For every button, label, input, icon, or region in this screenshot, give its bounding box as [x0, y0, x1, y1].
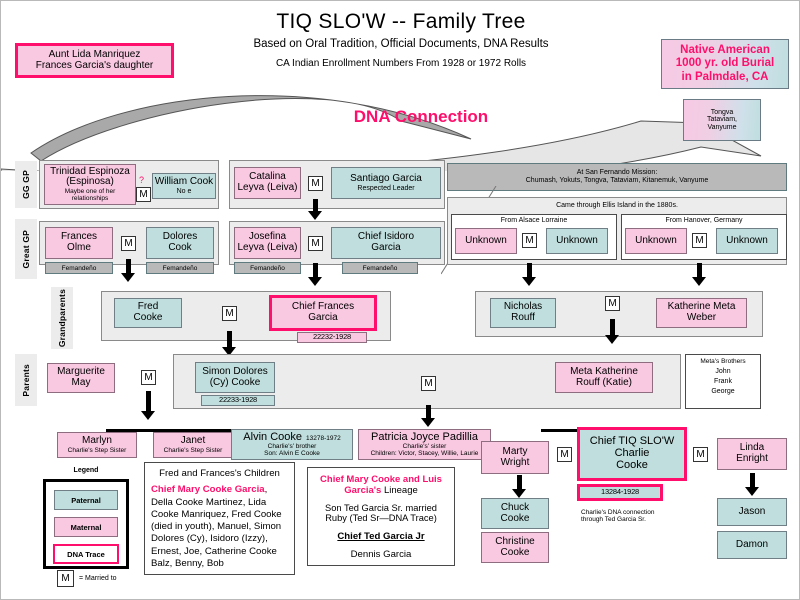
- linda-enright-box: Linda Enright: [717, 438, 787, 470]
- damon-box: Damon: [717, 531, 787, 559]
- charlie-dna-note: Charlie's DNA connection through Ted Gar…: [581, 509, 691, 523]
- christine-line2: Cooke: [501, 548, 530, 559]
- marty-line2: Wright: [501, 458, 530, 469]
- lineage-chief-ted-garcia-jr: Chief Ted Garcia Jr: [313, 531, 449, 542]
- alvin-enrollment-number: 13278-1972: [306, 435, 341, 442]
- fred-frances-children-list: Chief Mary Cooke Garcia, Della Cooke Mar…: [151, 484, 288, 570]
- nicholas-rouff-line2: Rouff: [511, 313, 535, 324]
- simon-enrollment-number: 22233-1928: [219, 396, 257, 404]
- rail-parents: Parents: [15, 354, 37, 406]
- marty-charlie-marriage-marker: M: [557, 447, 572, 462]
- simon-line1: Simon Dolores: [202, 367, 268, 378]
- legend-paternal-label: Paternal: [71, 496, 101, 505]
- ethnicity-tag-josefina: Femandeño: [234, 262, 301, 274]
- fred-frances-children-title: Fred and Frances's Children: [151, 468, 288, 480]
- rail-grandparents-label: Grandparents: [57, 289, 67, 347]
- arrow-great-to-grandparents-center: [308, 263, 322, 286]
- patricia-sub1: Charlie's' sister: [403, 443, 447, 450]
- metas-brothers-box: Meta's Brothers John Frank George: [685, 354, 761, 409]
- trinidad-line2: (Espinosa): [66, 177, 114, 188]
- legend-married-label: = Married to: [79, 575, 117, 582]
- alvin-sub1: Charlie's' brother: [268, 443, 317, 450]
- william-line1: William Cook: [155, 177, 213, 188]
- metas-brothers-title: Meta's Brothers: [686, 358, 760, 365]
- unknown-hanover-maternal-box: Unknown: [625, 228, 687, 254]
- rail-great-gp-label: Great GP: [21, 230, 31, 268]
- catalina-leyva-box: Catalina Leyva (Leiva): [234, 167, 301, 199]
- mission-line2: Chumash, Yokuts, Tongva, Tataviam, Kitan…: [526, 177, 709, 185]
- mary-cooke-lineage-box: Chief Mary Cooke and Luis Garcia's Linea…: [307, 467, 455, 566]
- jason-box: Jason: [717, 498, 787, 526]
- marty-wright-box: Marty Wright: [481, 441, 549, 474]
- page-subtitle-1: Based on Oral Tradition, Official Docume…: [171, 38, 631, 50]
- ellis-island-label: Came through Ellis Island in the 1880s.: [448, 198, 786, 209]
- tongva-line1: Tongva: [711, 109, 734, 117]
- janet-sub: Charlie's Step Sister: [164, 447, 223, 454]
- chuck-line1: Chuck: [501, 503, 529, 514]
- tongva-line3: Vanyume: [707, 124, 736, 132]
- fred-cooke-line2: Cooke: [134, 313, 163, 324]
- marguerite-may-box: Marguerite May: [47, 363, 115, 393]
- alvin-cooke-box: Alvin Cooke 13278-1972 Charlie's' brothe…: [231, 429, 353, 460]
- trinidad-note1: Maybe one of her: [65, 188, 116, 195]
- lineage-title-2: Garcia's Lineage: [313, 485, 449, 496]
- fred-frances-children-rest: , Della Cooke Martinez, Lida Cooke Manri…: [151, 484, 282, 569]
- lineage-title-1: Chief Mary Cooke and Luis: [313, 474, 449, 485]
- josefina-line2: Leyva (Leiva): [237, 243, 297, 254]
- fred-frances-children-highlight: Chief Mary Cooke Garcia: [151, 484, 265, 495]
- lineage-dennis-garcia: Dennis Garcia: [313, 549, 449, 560]
- rail-parents-label: Parents: [21, 364, 31, 397]
- arrow-gg-to-great-center: [308, 199, 322, 220]
- isidoro-line2: Garcia: [371, 243, 400, 254]
- arrow-hanover-down: [692, 263, 706, 286]
- simon-line2: (Cy) Cooke: [210, 378, 261, 389]
- legend-box: Paternal Maternal DNA Trace M = Married …: [43, 479, 129, 569]
- simon-meta-marriage-marker: M: [421, 376, 436, 391]
- josefina-leyva-box: Josefina Leyva (Leiva): [234, 227, 301, 259]
- christine-line1: Christine: [495, 537, 534, 548]
- ethnicity-tag-isidoro: Femandeño: [342, 262, 418, 274]
- native-line3: in Palmdale, CA: [682, 71, 769, 85]
- charlie-dna-note-line1: Charlie's DNA connection: [581, 509, 691, 516]
- simon-dolores-cooke-box: Simon Dolores (Cy) Cooke: [195, 362, 275, 393]
- native-line1: Native American: [680, 44, 770, 58]
- santiago-garcia-box: Santiago Garcia Respected Leader: [331, 167, 441, 199]
- charlie-enrollment-number: 13284-1928: [601, 488, 639, 496]
- dolores-cook-box: Dolores Cook: [146, 227, 214, 259]
- marty-line1: Marty: [503, 447, 528, 458]
- olme-cook-marriage-marker: M: [121, 236, 136, 251]
- marlyn-name: Marlyn: [82, 436, 112, 447]
- native-line2: 1000 yr. old Burial: [676, 57, 774, 71]
- frances-garcia-enrollment-number: 22232-1928: [313, 333, 351, 341]
- chief-isidoro-garcia-box: Chief Isidoro Garcia: [331, 227, 441, 259]
- katherine-weber-box: Katherine Meta Weber: [656, 298, 747, 328]
- trinidad-espinoza-box: Trinidad Espinoza (Espinosa) Maybe one o…: [44, 164, 136, 205]
- frances-olme-box: Frances Olme: [45, 227, 113, 259]
- ethnicity-tag-olme: Femandeño: [45, 262, 113, 274]
- santiago-line1: Santiago Garcia: [350, 174, 422, 185]
- damon-label: Damon: [736, 540, 768, 551]
- charlie-dna-note-line2: through Ted Garcia Sr.: [581, 516, 691, 523]
- legend-maternal-label: Maternal: [71, 523, 102, 532]
- fred-frances-children-box: Fred and Frances's Children Chief Mary C…: [144, 462, 295, 575]
- marlyn-sub: Charlie's Step Sister: [68, 447, 127, 454]
- santiago-line2: Respected Leader: [357, 185, 414, 193]
- rail-gg-gp: GG GP: [15, 161, 37, 208]
- trinidad-william-marriage-marker: M: [136, 187, 151, 202]
- native-american-burial-box: Native American 1000 yr. old Burial in P…: [661, 39, 789, 89]
- meta-katherine-rouff-box: Meta Katherine Rouff (Katie): [555, 362, 653, 393]
- marlyn-box: Marlyn Charlie's Step Sister: [57, 432, 137, 458]
- simon-enrollment-tag: 22233-1928: [201, 395, 275, 406]
- mission-line1: At San Fernando Mission:: [577, 169, 658, 177]
- alsace-marriage-marker: M: [522, 233, 537, 248]
- jason-label: Jason: [739, 507, 766, 518]
- chuck-line2: Cooke: [501, 514, 530, 525]
- unknown-hanover-paternal-box: Unknown: [716, 228, 778, 254]
- page-subtitle-2: CA Indian Enrollment Numbers From 1928 o…: [171, 58, 631, 69]
- metas-brother-2: Frank: [686, 378, 760, 385]
- william-line2: No e: [177, 188, 192, 196]
- charlie-line3: Cooke: [616, 460, 648, 472]
- unknown-alsace-paternal-label: Unknown: [556, 236, 598, 247]
- arrow-parents-to-children: [421, 405, 435, 427]
- charlie-linda-marriage-marker: M: [693, 447, 708, 462]
- frances-olme-line2: Olme: [67, 243, 91, 254]
- dolores-cook-line2: Cook: [168, 243, 191, 254]
- frances-garcia-line2: Garcia: [308, 313, 337, 324]
- aunt-lida-line1: Aunt Lida Manriquez: [49, 50, 141, 61]
- metas-brother-1: John: [686, 368, 760, 375]
- chief-tiq-slow-charlie-cooke-box: Chief TIQ SLO'W Charlie Cooke: [579, 429, 685, 479]
- patricia-sub2: Children: Victor, Stacey, Willie, Laurie: [371, 450, 479, 457]
- legend-dna-trace-swatch: DNA Trace: [53, 544, 119, 564]
- page-title: TIQ SLO'W -- Family Tree: [201, 10, 601, 34]
- charlie-enrollment-tag: 13284-1928: [579, 486, 661, 499]
- christine-cooke-box: Christine Cooke: [481, 532, 549, 563]
- katherine-weber-line2: Weber: [687, 313, 716, 324]
- linda-line2: Enright: [736, 454, 768, 465]
- legend-title: Legend: [43, 467, 129, 474]
- janet-box: Janet Charlie's Step Sister: [153, 432, 233, 458]
- tongva-tribes-box: Tongva Tataviam, Vanyume: [683, 99, 761, 141]
- legend-paternal-swatch: Paternal: [54, 490, 118, 510]
- hanover-label: From Hanover, Germany: [622, 215, 786, 224]
- legend-m-marker: M: [57, 570, 74, 587]
- lineage-line-1: Son Ted Garcia Sr. married: [313, 503, 449, 513]
- unknown-hanover-paternal-label: Unknown: [726, 236, 768, 247]
- aunt-lida-line2: Frances Garcia's daughter: [36, 61, 154, 72]
- unknown-alsace-paternal-box: Unknown: [546, 228, 608, 254]
- marguerite-simon-marriage-marker: M: [141, 370, 156, 385]
- aunt-lida-box: Aunt Lida Manriquez Frances Garcia's dau…: [17, 45, 172, 76]
- catalina-line2: Leyva (Leiva): [237, 183, 297, 194]
- meta-line2: Rouff (Katie): [576, 378, 632, 389]
- lineage-title-2-highlight: Garcia's: [344, 485, 381, 496]
- arrow-alsace-down: [522, 263, 536, 286]
- hanover-marriage-marker: M: [692, 233, 707, 248]
- frances-garcia-enrollment-tag: 22232-1928: [297, 332, 367, 343]
- legend-married-row: M = Married to: [57, 570, 126, 587]
- legend-dna-trace-label: DNA Trace: [67, 550, 105, 559]
- nicholas-katherine-marriage-marker: M: [605, 296, 620, 311]
- meta-line1: Meta Katherine: [570, 367, 638, 378]
- trinidad-note2: relationships: [72, 195, 109, 202]
- arrow-parents-down-left: [141, 391, 155, 420]
- lineage-line-2: Ruby (Ted Sr—DNA Trace): [313, 513, 449, 523]
- metas-brother-3: George: [686, 388, 760, 395]
- family-tree-canvas: TIQ SLO'W -- Family Tree Based on Oral T…: [0, 0, 800, 600]
- unknown-hanover-maternal-label: Unknown: [635, 236, 677, 247]
- chief-frances-garcia-box: Chief Frances Garcia: [271, 297, 375, 329]
- marguerite-line2: May: [72, 378, 91, 389]
- arrow-linda-to-jason: [745, 473, 759, 496]
- unknown-alsace-maternal-box: Unknown: [455, 228, 517, 254]
- chuck-cooke-box: Chuck Cooke: [481, 498, 549, 529]
- nicholas-rouff-box: Nicholas Rouff: [490, 298, 556, 328]
- arrow-grandparents-to-parents-left: [222, 331, 236, 356]
- william-cook-box: William Cook No e: [152, 173, 216, 199]
- dna-connection-label: DNA Connection: [301, 107, 541, 127]
- patricia-padillia-box: Patricia Joyce Padillia Charlie's' siste…: [358, 429, 491, 460]
- unknown-alsace-maternal-label: Unknown: [465, 236, 507, 247]
- patricia-name: Patricia Joyce Padillia: [371, 432, 478, 444]
- tongva-line2: Tataviam,: [707, 116, 737, 124]
- rail-grandparents: Grandparents: [51, 287, 73, 349]
- fred-cooke-box: Fred Cooke: [114, 298, 182, 328]
- arrow-great-to-grandparents-left: [121, 259, 135, 282]
- ethnicity-tag-cook: Femandeño: [146, 262, 214, 274]
- trinidad-question-icon: ?: [139, 175, 144, 185]
- rail-gg-gp-label: GG GP: [21, 170, 31, 199]
- arrow-marty-to-chuck: [512, 475, 526, 498]
- rail-great-gp: Great GP: [15, 219, 37, 279]
- lineage-title-2-rest: Lineage: [381, 485, 417, 496]
- alvin-name: Alvin Cooke: [243, 432, 302, 444]
- fred-frances-marriage-marker: M: [222, 306, 237, 321]
- alvin-sub2: Son: Alvin E Cooke: [264, 450, 320, 457]
- legend-maternal-swatch: Maternal: [54, 517, 118, 537]
- catalina-santiago-marriage-marker: M: [308, 176, 323, 191]
- arrow-grandparents-to-parents-right: [605, 319, 619, 344]
- alsace-label: From Alsace Lorraine: [452, 215, 616, 224]
- janet-name: Janet: [181, 436, 205, 447]
- josefina-isidoro-marriage-marker: M: [308, 236, 323, 251]
